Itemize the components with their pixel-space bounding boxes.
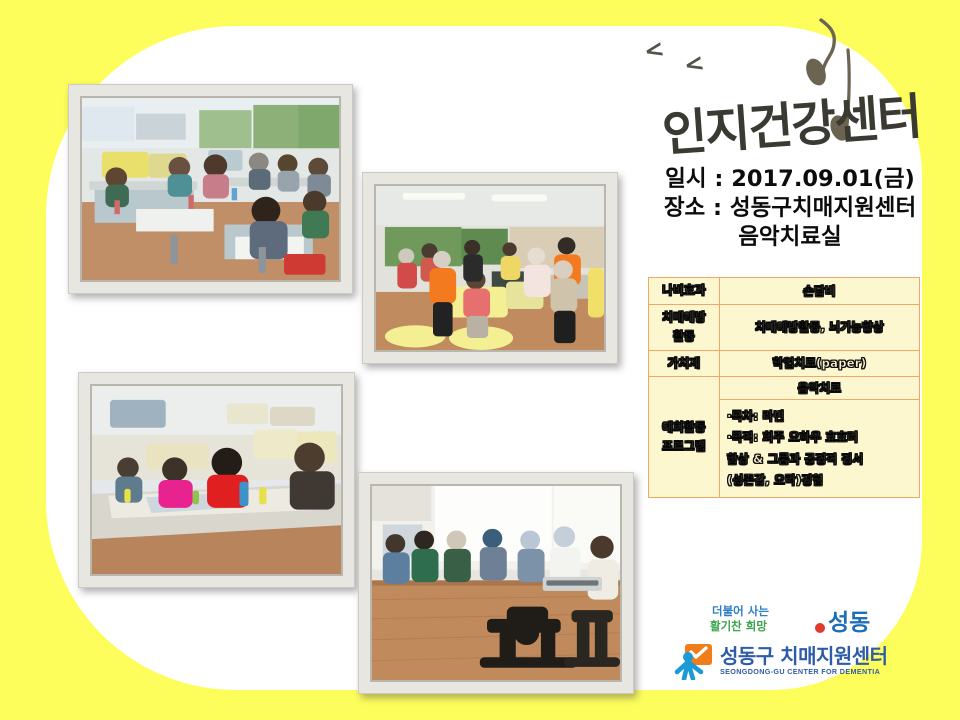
row-value-2: 학업치료(paper) [720, 350, 920, 377]
chevron-mark-icon: < [641, 34, 666, 66]
event-place: 장소 : 성동구치매지원센터 [640, 194, 940, 223]
event-room: 음악치료실 [640, 223, 940, 252]
dementia-center-logo: 성동구 치매지원센터 SEONGDONG-GU CENTER FOR DEMEN… [674, 640, 914, 682]
chevron-mark-icon: < [681, 48, 706, 80]
logo-english-name: SEONGDONG-GU CENTER FOR DEMENTIA [720, 667, 888, 676]
photo-table-craft-activity [78, 372, 355, 588]
table-row: 나비효과 손담비 [649, 278, 920, 305]
program-info-table: 나비효과 손담비 치매예방활동 치매예방활동, 뇌기능향상 가치재 [648, 277, 920, 498]
seongdong-district-logo: 더불어 사는 활기찬 희망 성동 [708, 600, 898, 640]
photo-music-therapy-room [358, 472, 634, 694]
logo-wordmark: 성동구 치매지원센터 SEONGDONG-GU CENTER FOR DEMEN… [720, 646, 888, 676]
row-value-0: 손담비 [720, 278, 920, 305]
photo-classroom-paper-activity [68, 84, 353, 294]
svg-text:성동: 성동 [828, 610, 870, 636]
event-subtitle: 일시 : 2017.09.01(금) 장소 : 성동구치매지원센터 음악치료실 [640, 165, 940, 251]
row-label-1: 치매예방활동 [649, 304, 720, 350]
svg-text:더불어 사는: 더불어 사는 [712, 604, 769, 618]
photo-bevel [374, 184, 606, 352]
page-title: 인지건강센터 [644, 76, 938, 167]
footer-logos: 더불어 사는 활기찬 희망 성동 성동구 치매지원센터 SEONGDONG-GU… [660, 600, 922, 682]
row-value-1: 치매예방활동, 뇌기능향상 [720, 304, 920, 350]
photo-image [372, 486, 620, 680]
event-date: 일시 : 2017.09.01(금) [640, 165, 940, 194]
row-label-3: 에회활동프로그램 [649, 377, 720, 498]
photo-bevel [90, 384, 343, 576]
logo-korean-name: 성동구 치매지원센터 [720, 646, 888, 667]
photo-image [376, 186, 604, 350]
svg-text:활기찬 희망: 활기찬 희망 [710, 619, 767, 633]
photo-bevel [370, 484, 622, 682]
row-label-2: 가치재 [649, 350, 720, 377]
row-label-0: 나비효과 [649, 278, 720, 305]
photo-image [82, 98, 339, 280]
row-value-3: 음악치료 [720, 377, 920, 400]
poster-stage: < < 인지건강센터 일시 : 2017.09.01(금) 장소 : 성동구치매… [0, 0, 960, 720]
row-detail-3: ·목차: 라빈·목적: 회주 오하우 효효러함상 & 그룹과 공정적 정서(성존… [720, 400, 920, 498]
photo-image [92, 386, 341, 574]
table-row: 치매예방활동 치매예방활동, 뇌기능향상 [649, 304, 920, 350]
photo-bevel [80, 96, 341, 282]
table-row: 가치재 학업치료(paper) [649, 350, 920, 377]
photo-group-exercise-session [362, 172, 618, 364]
person-check-icon [674, 642, 714, 680]
table-row: 에회활동프로그램 음악치료 [649, 377, 920, 400]
